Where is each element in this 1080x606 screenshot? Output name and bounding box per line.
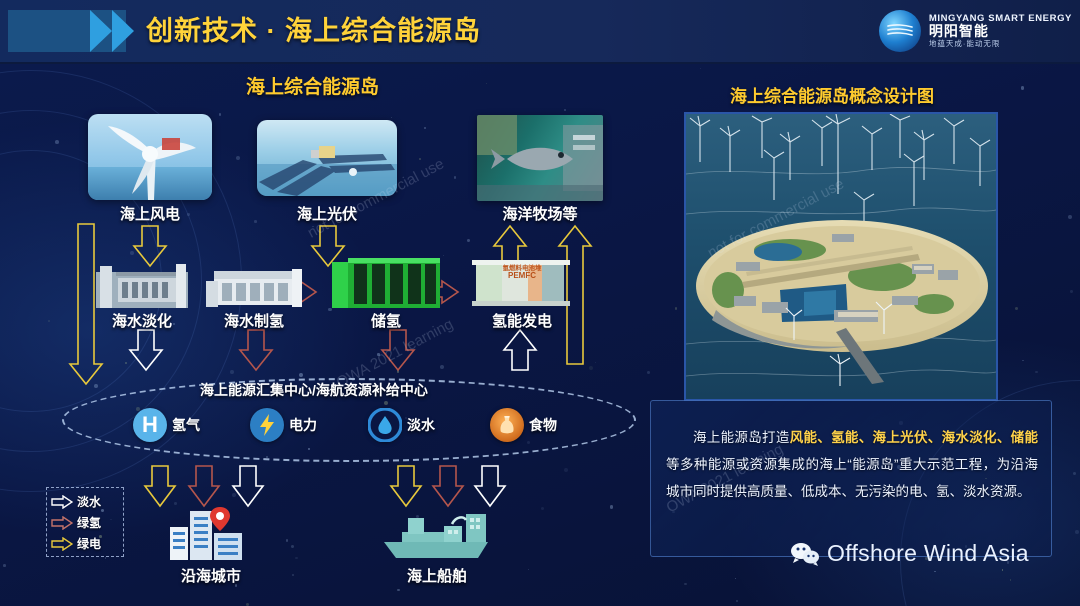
hub-label-freshwater: 淡水: [407, 415, 435, 435]
wind-turbine-icon: [88, 114, 212, 200]
fuel-cell-badge: 氢燃料电池堆 PEMFC: [482, 265, 562, 281]
wechat-label: Offshore Wind Asia: [827, 540, 1029, 567]
arrow-down-red: [189, 466, 219, 506]
description-plain: 海上能源岛打造: [693, 430, 790, 445]
icon-hydrogen-storage: [332, 258, 440, 310]
left-panel-title: 海上综合能源岛: [246, 72, 379, 99]
legend-arrow-white-icon: [51, 495, 73, 509]
icon-hydrogen-power: 氢燃料电池堆 PEMFC: [472, 258, 570, 308]
legend-arrow-yellow-icon: [51, 537, 73, 551]
arrow-down-red: [240, 330, 272, 370]
legend-row-greenpower: 绿电: [51, 533, 119, 554]
arrow-up-white: [504, 330, 536, 370]
hub-item-hydrogen: H 氢气: [133, 408, 200, 442]
cargo-ship-icon: [382, 508, 492, 560]
hydrogen-h-icon: H: [133, 408, 167, 442]
slide-root: 创新技术 · 海上综合能源岛 MINGYANG SMART ENERGY 明阳智…: [0, 0, 1080, 606]
card-marine-ranch: [477, 115, 603, 201]
fuel-cell-badge-en: PEMFC: [482, 272, 562, 281]
icon-desalination: [96, 262, 188, 308]
page-title: 创新技术 · 海上综合能源岛: [146, 8, 481, 54]
hub-item-food: 食物: [490, 408, 557, 442]
brand-logo: MINGYANG SMART ENERGY 明阳智能 地蕴天成·能动无限: [879, 6, 1072, 56]
caption-hydrogen-production: 海水制氢: [198, 310, 310, 331]
legend-label-greenhydrogen: 绿氢: [77, 514, 101, 531]
icon-hydrogen-production: [206, 265, 302, 307]
coastal-city-icon: [164, 505, 256, 560]
description-highlight: 风能、氢能、海上光伏、海水淡化、储能: [790, 430, 1038, 445]
chevron-right-icon: [112, 10, 134, 52]
hub-label-hydrogen: 氢气: [172, 415, 200, 435]
legend-arrow-red-icon: [51, 516, 73, 530]
arrow-down-red: [433, 466, 463, 506]
energy-hub-title: 海上能源汇集中心/海航资源补给中心: [200, 380, 428, 400]
arrow-down-yellow: [145, 466, 175, 506]
island-render: [686, 114, 996, 399]
hydrogen-storage-container-icon: [332, 258, 440, 310]
arrow-down-red: [382, 330, 414, 370]
arrow-down-yellow: [391, 466, 421, 506]
hub-label-electricity: 电力: [289, 415, 317, 435]
mingyang-logo-icon: [879, 10, 921, 52]
lightning-bolt-icon: [250, 408, 284, 442]
description-plain: 等多种能源或资源集成的海上“能源岛”重大示范工程，为沿海城市同时提供高质量、低成…: [666, 457, 1038, 499]
arrow-down-white: [233, 466, 263, 506]
brand-name-cn: 明阳智能: [929, 24, 1072, 39]
fan-blades-icon: [887, 22, 913, 40]
bolt-glyph: [259, 414, 275, 436]
legend-row-freshwater: 淡水: [51, 491, 119, 512]
food-sack-icon: [490, 408, 524, 442]
desalination-plant-icon: [96, 262, 188, 308]
island-concept-image: [684, 112, 998, 401]
description-text: 海上能源岛打造风能、氢能、海上光伏、海水淡化、储能等多种能源或资源集成的海上“能…: [666, 424, 1038, 505]
legend-label-freshwater: 淡水: [77, 493, 101, 510]
wechat-icon: [790, 542, 820, 566]
brand-slogan: 地蕴天成·能动无限: [929, 40, 1072, 48]
electrolyzer-icon: [206, 265, 302, 307]
caption-offshore-pv: 海上光伏: [257, 203, 397, 224]
caption-hydrogen-storage: 储氢: [340, 310, 432, 331]
caption-marine-ranch: 海洋牧场等: [477, 203, 603, 224]
solar-farm-icon: [257, 120, 397, 196]
caption-desalination: 海水淡化: [86, 310, 198, 331]
legend-row-greenhydrogen: 绿氢: [51, 512, 119, 533]
caption-offshore-wind: 海上风电: [88, 203, 212, 224]
water-drop-icon: [368, 408, 402, 442]
sack-glyph: [498, 414, 516, 436]
icon-coastal-city: [164, 505, 256, 560]
icon-offshore-ship: [382, 508, 492, 560]
card-offshore-pv: [257, 120, 397, 196]
arrow-down-white: [475, 466, 505, 506]
header-bar: 创新技术 · 海上综合能源岛 MINGYANG SMART ENERGY 明阳智…: [0, 0, 1080, 64]
caption-hydrogen-power: 氢能发电: [466, 310, 578, 331]
right-panel-title: 海上综合能源岛概念设计图: [730, 82, 934, 107]
chevron-right-icon: [90, 10, 112, 52]
caption-coastal-city: 沿海城市: [156, 565, 266, 586]
wechat-watermark: Offshore Wind Asia: [790, 540, 1029, 567]
card-offshore-wind: [88, 114, 212, 200]
hub-item-electricity: 电力: [250, 408, 317, 442]
caption-offshore-ship: 海上船舶: [382, 565, 492, 586]
water-drop-glyph: [368, 408, 402, 442]
fish-icon: [477, 115, 603, 201]
legend-label-greenpower: 绿电: [77, 535, 101, 552]
legend-box: 淡水 绿氢 绿电: [46, 487, 124, 557]
hub-label-food: 食物: [529, 415, 557, 435]
brand-logo-text: MINGYANG SMART ENERGY 明阳智能 地蕴天成·能动无限: [929, 14, 1072, 48]
hub-item-freshwater: 淡水: [368, 408, 435, 442]
